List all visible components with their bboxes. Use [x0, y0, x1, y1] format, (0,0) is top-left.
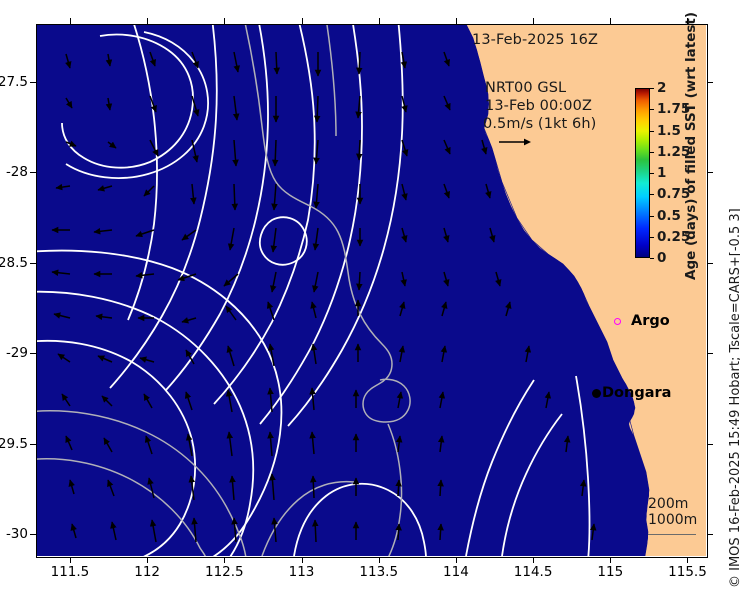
- x-tick-bottom: [224, 557, 225, 563]
- y-tick-right: [707, 534, 713, 535]
- x-tick-label: 113: [289, 564, 315, 580]
- map-graphic: [36, 24, 706, 556]
- y-tick-right: [707, 444, 713, 445]
- x-tick-top: [687, 18, 688, 24]
- y-tick-right: [707, 172, 713, 173]
- figure-canvas: 13-Feb-2025 16Z NRT00 GSL 13-Feb 00:00Z …: [0, 0, 740, 592]
- x-tick-top: [224, 18, 225, 24]
- x-tick-label: 112: [134, 564, 160, 580]
- x-tick-top: [302, 18, 303, 24]
- x-tick-label: 114: [443, 564, 469, 580]
- x-tick-bottom: [533, 557, 534, 563]
- x-tick-label: 112.5: [205, 564, 244, 580]
- y-tick-left: [30, 534, 36, 535]
- y-tick-label: -29: [6, 345, 28, 361]
- y-tick-left: [30, 263, 36, 264]
- colorbar-gradient: [635, 88, 650, 258]
- x-tick-top: [610, 18, 611, 24]
- colorbar-tick-2: 2: [657, 80, 666, 96]
- x-tick-label: 113.5: [359, 564, 398, 580]
- argo-label: Argo: [631, 313, 670, 329]
- depth-key-200m: 200m: [648, 497, 697, 513]
- x-tick-label: 114.5: [514, 564, 553, 580]
- x-tick-bottom: [302, 557, 303, 563]
- colorbar-axis-label: Age (days) of filled SST (wrt latest): [683, 30, 699, 280]
- x-tick-label: 115: [597, 564, 623, 580]
- dongara-label: Dongara: [602, 385, 671, 401]
- dongara-city-marker[interactable]: [592, 389, 601, 398]
- x-tick-bottom: [456, 557, 457, 563]
- colorbar[interactable]: 0 0.25 0.5 0.75 1 1.25 1.5 1.75 2: [635, 88, 650, 258]
- y-tick-label: -27.5: [0, 74, 28, 90]
- map-plot-area[interactable]: [36, 24, 706, 556]
- depth-contour-key: 200m 1000m: [648, 497, 697, 528]
- colorbar-tick-0: 0: [657, 250, 666, 266]
- x-tick-label: 111.5: [51, 564, 90, 580]
- y-tick-left: [30, 444, 36, 445]
- colorbar-tick-05: 0.5: [657, 208, 681, 224]
- y-tick-left: [30, 172, 36, 173]
- y-tick-right: [707, 82, 713, 83]
- colorbar-tick-1: 1: [657, 165, 666, 181]
- vector-scale-annotation: 0.5m/s (1kt 6h): [483, 116, 596, 132]
- credit-text: © IMOS 16-Feb-2025 15:49 Hobart; Tscale=…: [728, 168, 740, 588]
- right-arrow-icon: [498, 136, 532, 148]
- timestamp-annotation: 13-Feb-2025 16Z: [472, 32, 598, 48]
- y-tick-right: [707, 263, 713, 264]
- argo-float-marker[interactable]: [614, 318, 621, 325]
- depth-key-1000m: 1000m: [648, 513, 697, 529]
- x-tick-top: [456, 18, 457, 24]
- x-tick-label: 115.5: [668, 564, 707, 580]
- model-date-annotation: 13-Feb 00:00Z: [485, 98, 592, 114]
- y-tick-left: [30, 82, 36, 83]
- x-tick-top: [147, 18, 148, 24]
- y-tick-label: -29.5: [0, 436, 28, 452]
- y-tick-left: [30, 353, 36, 354]
- y-tick-label: -28: [6, 164, 28, 180]
- colorbar-tick-15: 1.5: [657, 123, 681, 139]
- x-tick-top: [70, 18, 71, 24]
- x-tick-bottom: [379, 557, 380, 563]
- x-tick-bottom: [70, 557, 71, 563]
- x-tick-bottom: [610, 557, 611, 563]
- x-tick-top: [379, 18, 380, 24]
- x-tick-bottom: [147, 557, 148, 563]
- depth-key-rule: [648, 534, 696, 535]
- x-tick-top: [533, 18, 534, 24]
- y-tick-right: [707, 353, 713, 354]
- model-name-annotation: NRT00 GSL: [485, 80, 566, 96]
- x-tick-bottom: [687, 557, 688, 563]
- y-tick-label: -30: [6, 526, 28, 542]
- y-tick-label: -28.5: [0, 255, 28, 271]
